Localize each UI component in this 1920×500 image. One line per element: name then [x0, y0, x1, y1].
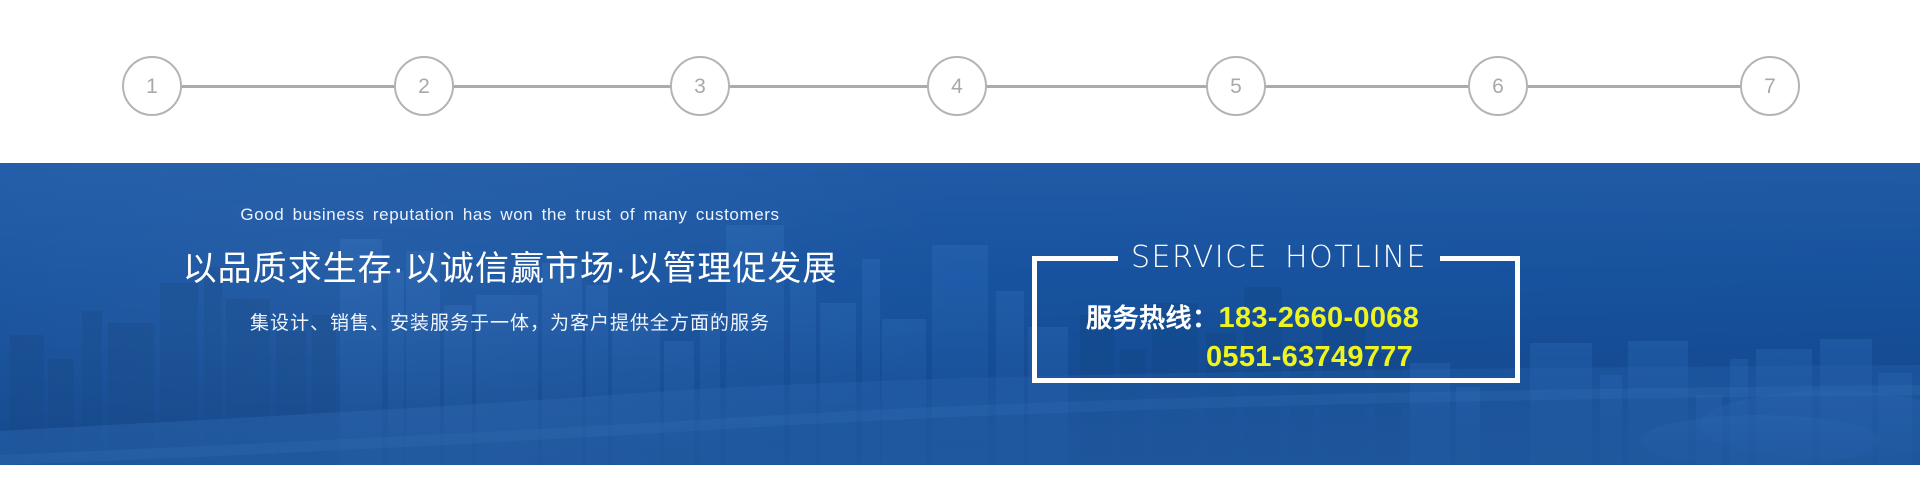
hotline-number-primary[interactable]: 183-2660-0068 [1219, 302, 1420, 335]
step-circle-6[interactable]: 6 [1468, 56, 1528, 116]
step-label-4: 4 [951, 76, 963, 97]
step-label-7: 7 [1764, 76, 1776, 97]
step-indicator-bar: 1 2 3 4 5 6 7 [0, 0, 1920, 163]
step-label-5: 5 [1230, 76, 1242, 97]
step-label-3: 3 [694, 76, 706, 97]
hotline-title: SERVICE HOTLINE [1118, 239, 1440, 277]
step-circle-2[interactable]: 2 [394, 56, 454, 116]
service-hotline-box: SERVICE HOTLINE 服务热线： 183-2660-0068 0551… [1032, 256, 1520, 383]
step-circle-5[interactable]: 5 [1206, 56, 1266, 116]
hotline-border-top-right [1440, 256, 1520, 261]
slogan-block: Good business reputation has won the tru… [0, 205, 1020, 335]
hotline-row-secondary: 0551-63749777 [1032, 341, 1520, 374]
hotline-row-primary: 服务热线： 183-2660-0068 [1032, 298, 1520, 335]
step-label-1: 1 [146, 76, 158, 97]
step-circle-4[interactable]: 4 [927, 56, 987, 116]
step-circle-3[interactable]: 3 [670, 56, 730, 116]
step-circle-7[interactable]: 7 [1740, 56, 1800, 116]
slogan-chinese-subline: 集设计、销售、安装服务于一体，为客户提供全方面的服务 [0, 308, 1020, 335]
hotline-numbers-group: 服务热线： 183-2660-0068 0551-63749777 [1032, 298, 1520, 374]
step-label-6: 6 [1492, 76, 1504, 97]
hotline-label: 服务热线： [1086, 298, 1219, 335]
slogan-english-line: Good business reputation has won the tru… [0, 205, 1020, 225]
hotline-number-secondary[interactable]: 0551-63749777 [1206, 341, 1413, 374]
hotline-border-top-left [1032, 256, 1118, 261]
footer-banner: Good business reputation has won the tru… [0, 163, 1920, 465]
step-circle-1[interactable]: 1 [122, 56, 182, 116]
step-label-2: 2 [418, 76, 430, 97]
slogan-chinese-headline: 以品质求生存·以诚信赢市场·以管理促发展 [0, 241, 1020, 290]
page-root: 1 2 3 4 5 6 7 [0, 0, 1920, 500]
hotline-border-bottom [1032, 378, 1520, 383]
